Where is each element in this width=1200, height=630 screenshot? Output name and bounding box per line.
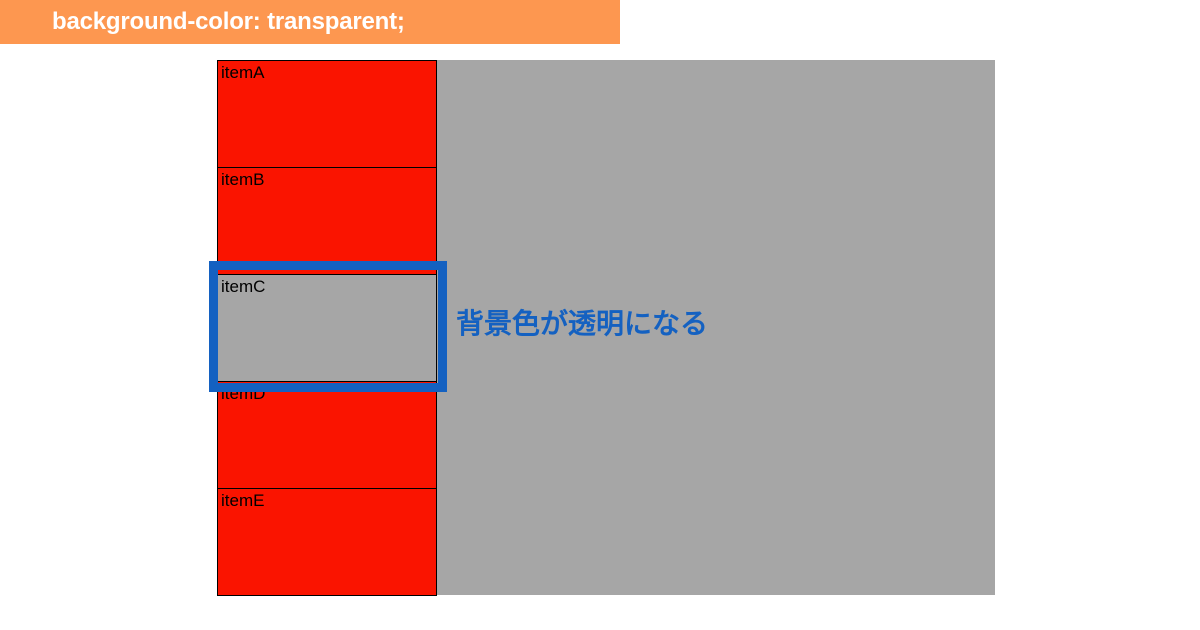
annotation-text: 背景色が透明になる bbox=[456, 307, 708, 341]
list-item-label: itemA bbox=[221, 64, 436, 82]
list-item[interactable]: itemA bbox=[217, 60, 437, 167]
header-banner: background-color: transparent; bbox=[0, 0, 620, 44]
list-item-label: itemB bbox=[221, 171, 436, 189]
item-list: itemA itemB itemC itemD itemE bbox=[217, 60, 437, 595]
list-item[interactable]: itemD bbox=[217, 381, 437, 488]
list-item[interactable]: itemB bbox=[217, 167, 437, 274]
list-item-label: itemE bbox=[221, 492, 436, 510]
list-item-label: itemD bbox=[221, 385, 436, 403]
list-item-label: itemC bbox=[221, 278, 436, 296]
list-item-transparent[interactable]: itemC bbox=[217, 274, 437, 381]
list-item[interactable]: itemE bbox=[217, 488, 437, 596]
page-title: background-color: transparent; bbox=[52, 10, 405, 34]
